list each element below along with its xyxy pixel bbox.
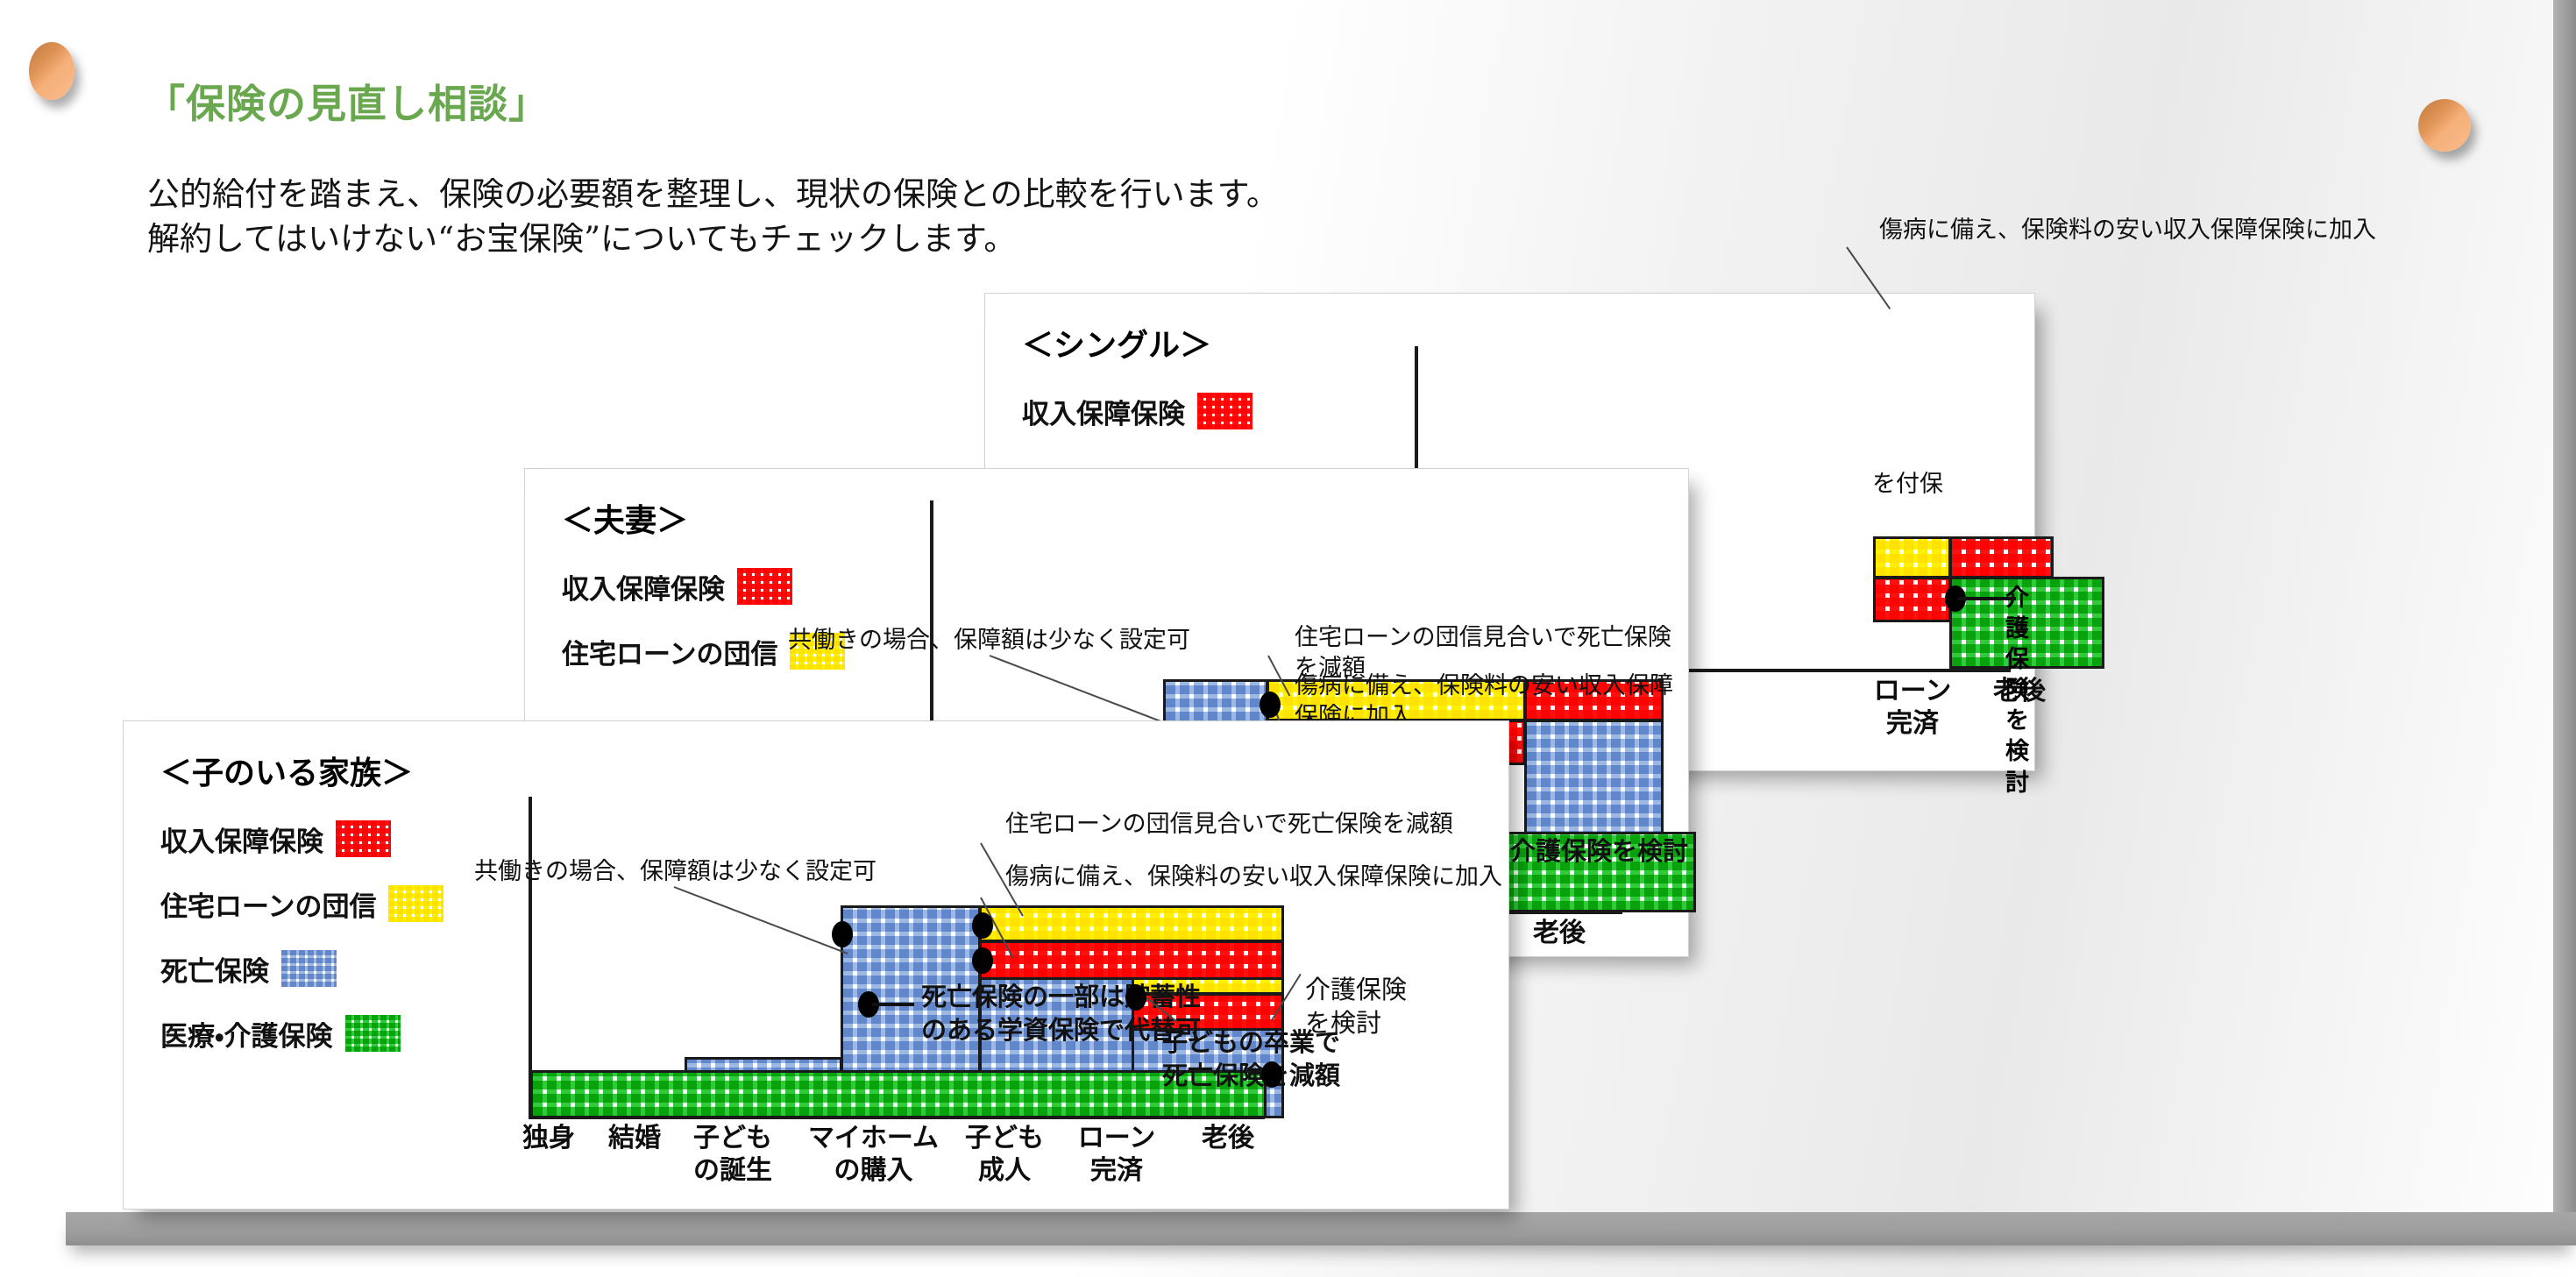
callout-leader (1958, 597, 2016, 600)
bar-medical-care-insurance (530, 1070, 1267, 1118)
legend-item-label: 住宅ローンの団信 (160, 884, 376, 924)
bullet-dot-icon-right (2418, 99, 2471, 152)
card-title-couple: ＜夫妻＞ (562, 495, 845, 541)
x-tick-label: 子ども 成人 (947, 1123, 1061, 1187)
slide-bottom-band (66, 1212, 2576, 1245)
page-title: 「保険の見直し相談」 (145, 72, 549, 129)
annotation-fuho: を付保 (1872, 469, 1943, 500)
callout-marker (972, 912, 993, 939)
legend-couple: ＜夫妻＞ 収入保障保険 住宅ローンの団信 (562, 495, 845, 693)
callout-marker (1261, 1061, 1282, 1088)
annotation-care-insurance: 介護保険を検討 (1510, 835, 1688, 869)
annotation-dual-income: 共働きの場合、保障額は少なく設定可 (474, 856, 876, 887)
bar-income-protection-upper (1949, 536, 2054, 578)
card-title-family: ＜子のいる家族＞ (160, 748, 444, 793)
legend-item: 住宅ローンの団信 (160, 881, 444, 926)
bar-mortgage-group-credit (979, 905, 1284, 942)
annotation-care-insurance: 介護保険を検討 (2005, 583, 2034, 798)
legend-swatch-red-icon (1197, 393, 1253, 429)
bar-income-protection (1873, 577, 1951, 622)
legend-item-label: 収入保障保険 (1022, 392, 1185, 431)
legend-item: 収入保障保険 (160, 816, 444, 862)
callout-marker (832, 921, 853, 947)
lead-paragraph: 公的給付を踏まえ、保険の必要額を整理し、現状の保険との比較を行います。 解約して… (147, 172, 1279, 261)
annotation-mortgage-credit: 住宅ローンの団信見合いで死亡保険を減額 (1005, 809, 1453, 840)
annotation-leader (990, 655, 1178, 728)
legend-item-label: 医療・介護保険 (160, 1014, 333, 1054)
callout-marker (972, 947, 993, 974)
annotation-leader (674, 886, 848, 954)
legend-swatch-red-icon (336, 820, 391, 857)
x-tick-label: 老後 (1175, 1123, 1281, 1155)
legend-item-label: 収入保障保険 (160, 819, 323, 859)
legend-swatch-blue-icon (281, 950, 337, 987)
legend-item-label: 住宅ローンの団信 (562, 632, 777, 671)
x-tick-label: 独身 (500, 1123, 597, 1155)
legend-family: ＜子のいる家族＞ 収入保障保険 住宅ローンの団信 死亡保険 医療・介護保険 (160, 748, 444, 1075)
legend-item-label: 死亡保険 (160, 949, 269, 989)
annotation-care-insurance: 介護保険 を検討 (1305, 974, 1407, 1039)
legend-item: 収入保障保険 (1022, 388, 1253, 434)
legend-item: 収入保障保険 (562, 564, 845, 609)
x-tick-label: 老後 (1511, 918, 1607, 950)
annotation-education-insurance: 死亡保険の一部は貯蓄性 のある学資保険で代替可 (921, 981, 1201, 1046)
bar-mortgage-group-credit (1873, 536, 1951, 578)
legend-swatch-green-icon (345, 1015, 401, 1052)
legend-item: 死亡保険 (160, 946, 444, 991)
slide-right-edge (2553, 0, 2576, 1214)
callout-marker (1125, 984, 1146, 1011)
callout-marker (1260, 692, 1281, 718)
legend-swatch-yellow-icon (388, 885, 444, 922)
annotation-income-protection: 傷病に備え、保険料の安い収入保障保険に加入 (1879, 215, 2510, 245)
callout-leader (872, 1003, 914, 1006)
annotation-income-protection: 傷病に備え、保険料の安い収入保障保険に加入 (1005, 862, 1502, 892)
card-title-single: ＜シングル＞ (1022, 320, 1253, 365)
x-tick-label: 子ども の誕生 (676, 1123, 790, 1187)
legend-item: 医療・介護保険 (160, 1011, 444, 1056)
legend-item-label: 収入保障保険 (562, 567, 725, 607)
annotation-dual-income: 共働きの場合、保障額は少なく設定可 (788, 625, 1190, 656)
legend-single: ＜シングル＞ 収入保障保険 (1022, 320, 1253, 453)
x-tick-label: ローン 完済 (1060, 1123, 1174, 1187)
legend-swatch-red-icon (737, 568, 792, 605)
x-tick-label: 結婚 (586, 1123, 683, 1155)
card-family[interactable]: ＜子のいる家族＞ 収入保障保険 住宅ローンの団信 死亡保険 医療・介護保険 (123, 720, 1509, 1210)
x-tick-label: ローン 完済 (1869, 676, 1956, 740)
bar-income-protection (979, 940, 1284, 980)
bullet-dot-icon (29, 42, 75, 100)
x-tick-label: マイホーム の購入 (797, 1123, 950, 1187)
